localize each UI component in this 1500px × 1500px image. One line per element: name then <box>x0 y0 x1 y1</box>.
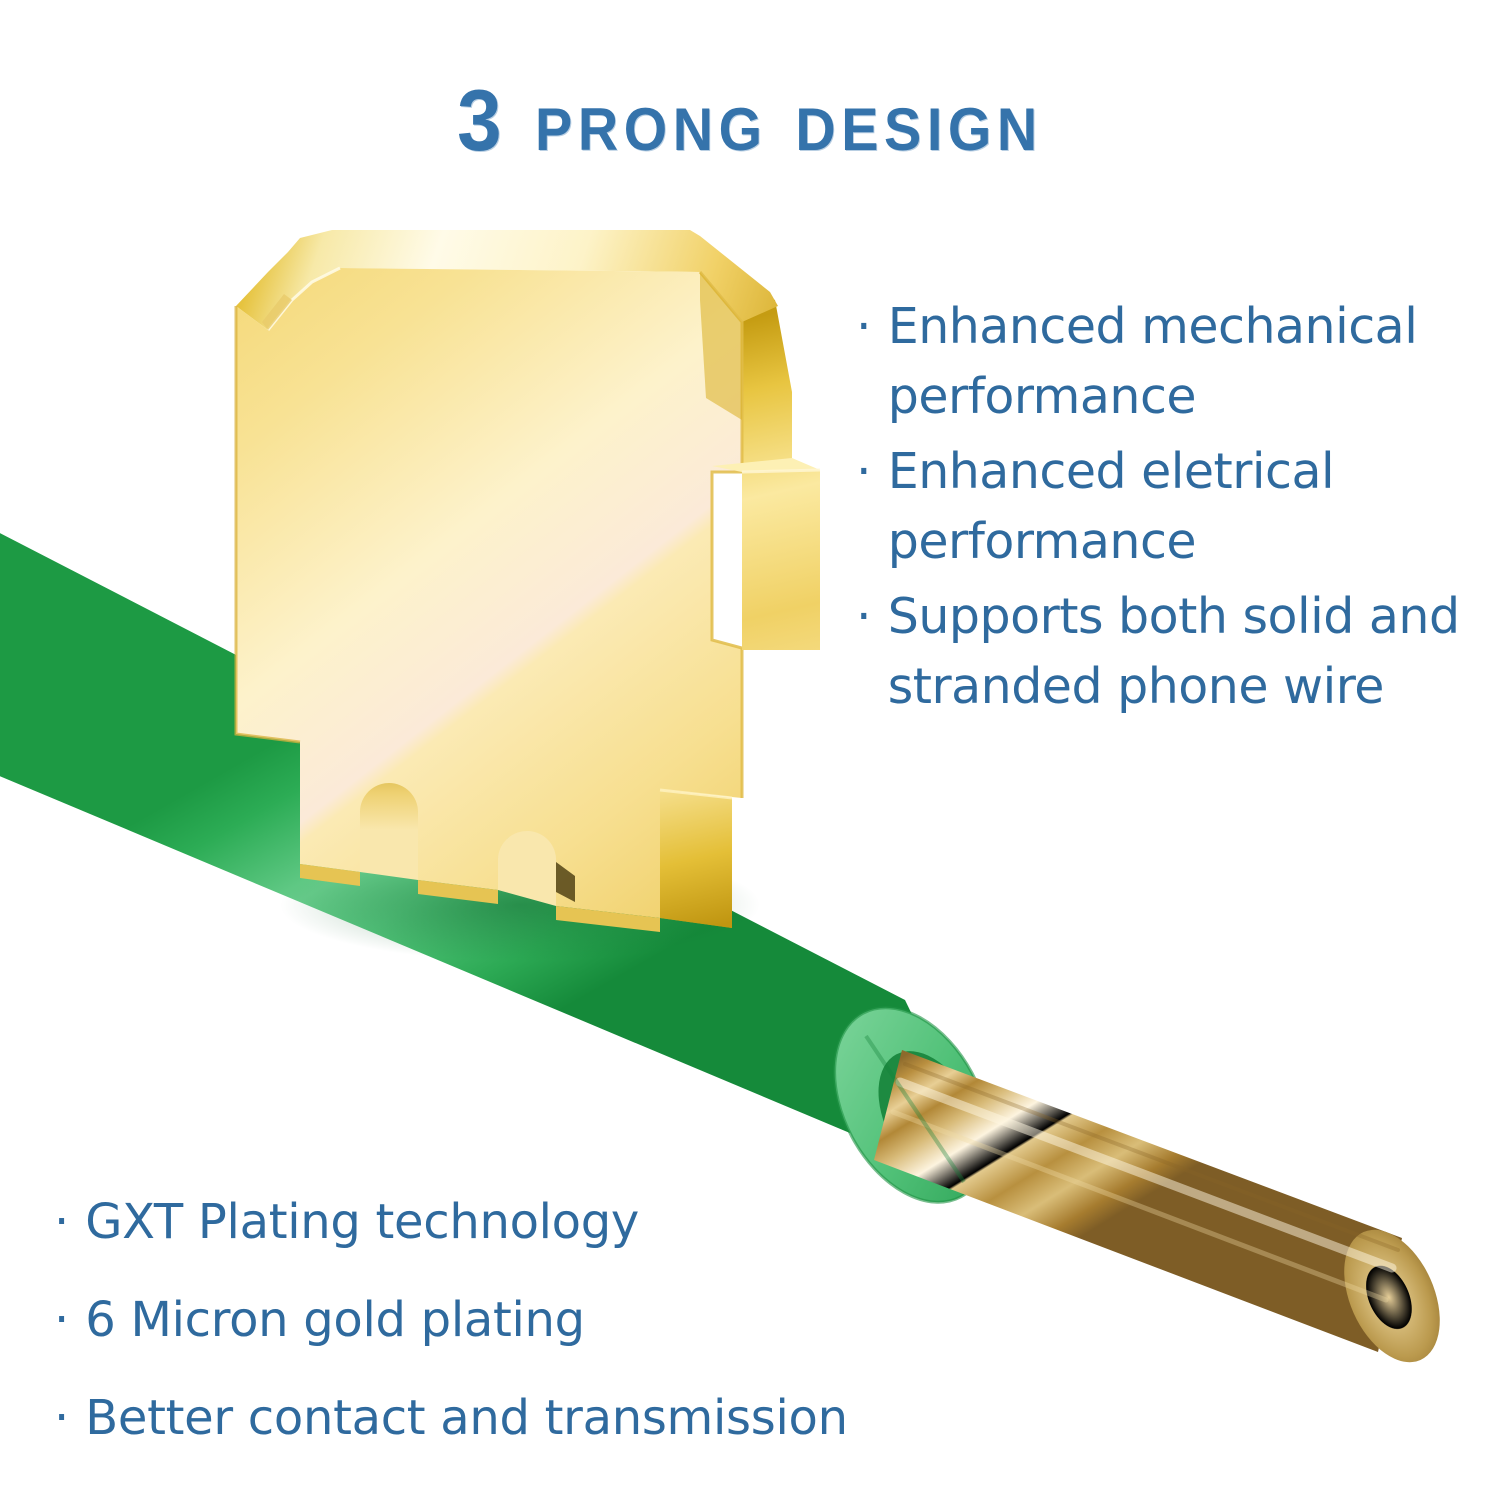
features-list-right: · Enhanced mechanical performance · Enha… <box>856 292 1492 727</box>
bullet-marker: · <box>856 292 871 362</box>
list-item-label: Better contact and transmission <box>85 1384 847 1452</box>
copper-conductor <box>874 1050 1459 1377</box>
page-title: 3 Prong Design <box>53 78 1448 164</box>
features-list-bottom: · GXT Plating technology · 6 Micron gold… <box>54 1188 914 1482</box>
bullet-marker: · <box>856 437 871 507</box>
list-item-label: Supports both solid and stranded phone w… <box>888 582 1492 721</box>
list-item: · Supports both solid and stranded phone… <box>856 582 1492 721</box>
list-item-label: Enhanced mechanical performance <box>888 292 1492 431</box>
bullet-marker: · <box>54 1286 69 1354</box>
list-item: · GXT Plating technology <box>54 1188 914 1256</box>
list-item-label: Enhanced eletrical performance <box>888 437 1492 576</box>
list-item-label: GXT Plating technology <box>85 1188 639 1256</box>
gold-contact-blade <box>236 230 820 932</box>
list-item: · Enhanced mechanical performance <box>856 292 1492 431</box>
bullet-marker: · <box>856 582 871 652</box>
bullet-marker: · <box>54 1384 69 1452</box>
list-item: · Enhanced eletrical performance <box>856 437 1492 576</box>
bullet-marker: · <box>54 1188 69 1256</box>
list-item: · 6 Micron gold plating <box>54 1286 914 1354</box>
list-item-label: 6 Micron gold plating <box>85 1286 585 1354</box>
infographic-canvas: 3 Prong Design <box>0 0 1500 1500</box>
list-item: · Better contact and transmission <box>54 1384 914 1452</box>
